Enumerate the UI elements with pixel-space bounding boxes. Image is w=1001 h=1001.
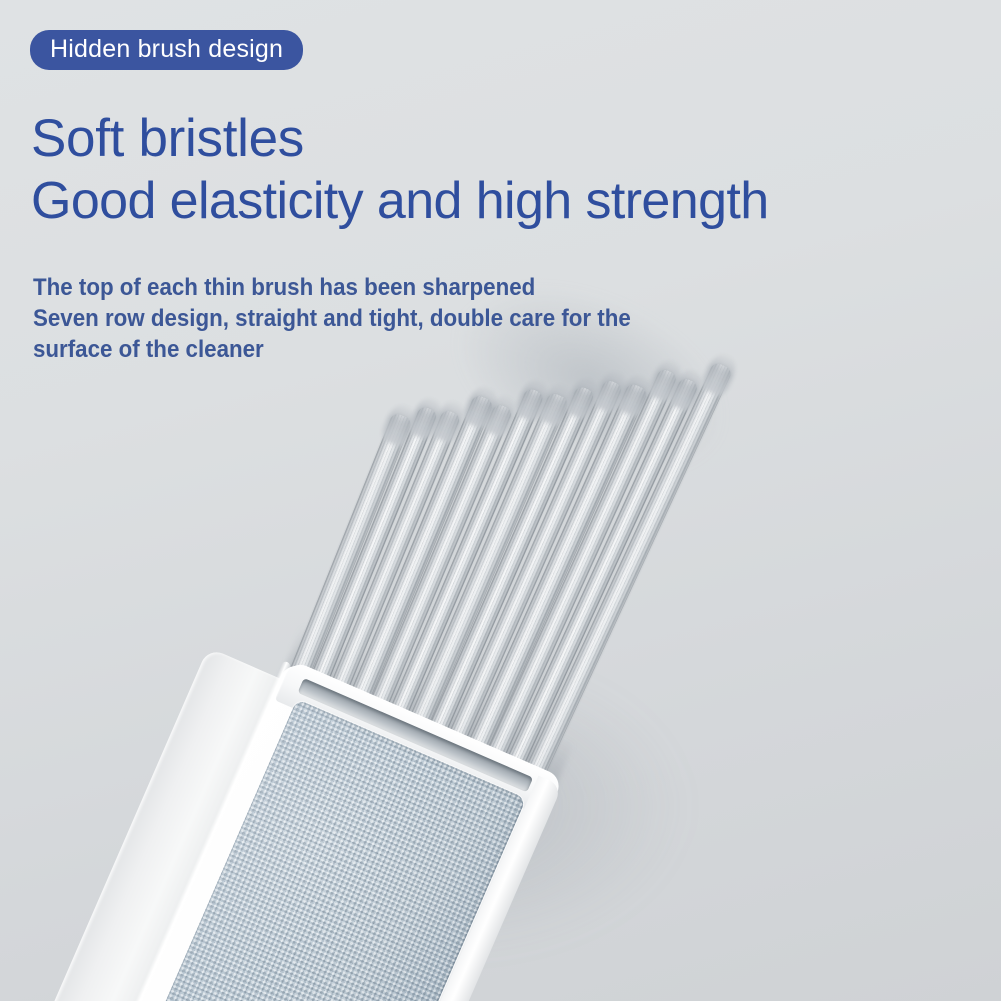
description-line-2: Seven row design, straight and tight, do… <box>33 303 870 334</box>
marketing-copy: Hidden brush design Soft bristles Good e… <box>0 0 1001 380</box>
headline-line-2: Good elasticity and high strength <box>31 170 991 232</box>
description-line-3: surface of the cleaner <box>33 334 870 365</box>
description-line-1: The top of each thin brush has been shar… <box>33 272 870 303</box>
headline-line-1: Soft bristles <box>31 108 991 170</box>
page-title: Soft bristles Good elasticity and high s… <box>31 108 991 232</box>
badge-hidden-brush-design: Hidden brush design <box>30 30 303 70</box>
promo-image: Hidden brush design Soft bristles Good e… <box>0 0 1001 1001</box>
description-text: The top of each thin brush has been shar… <box>33 272 933 365</box>
badge-label: Hidden brush design <box>50 35 283 64</box>
